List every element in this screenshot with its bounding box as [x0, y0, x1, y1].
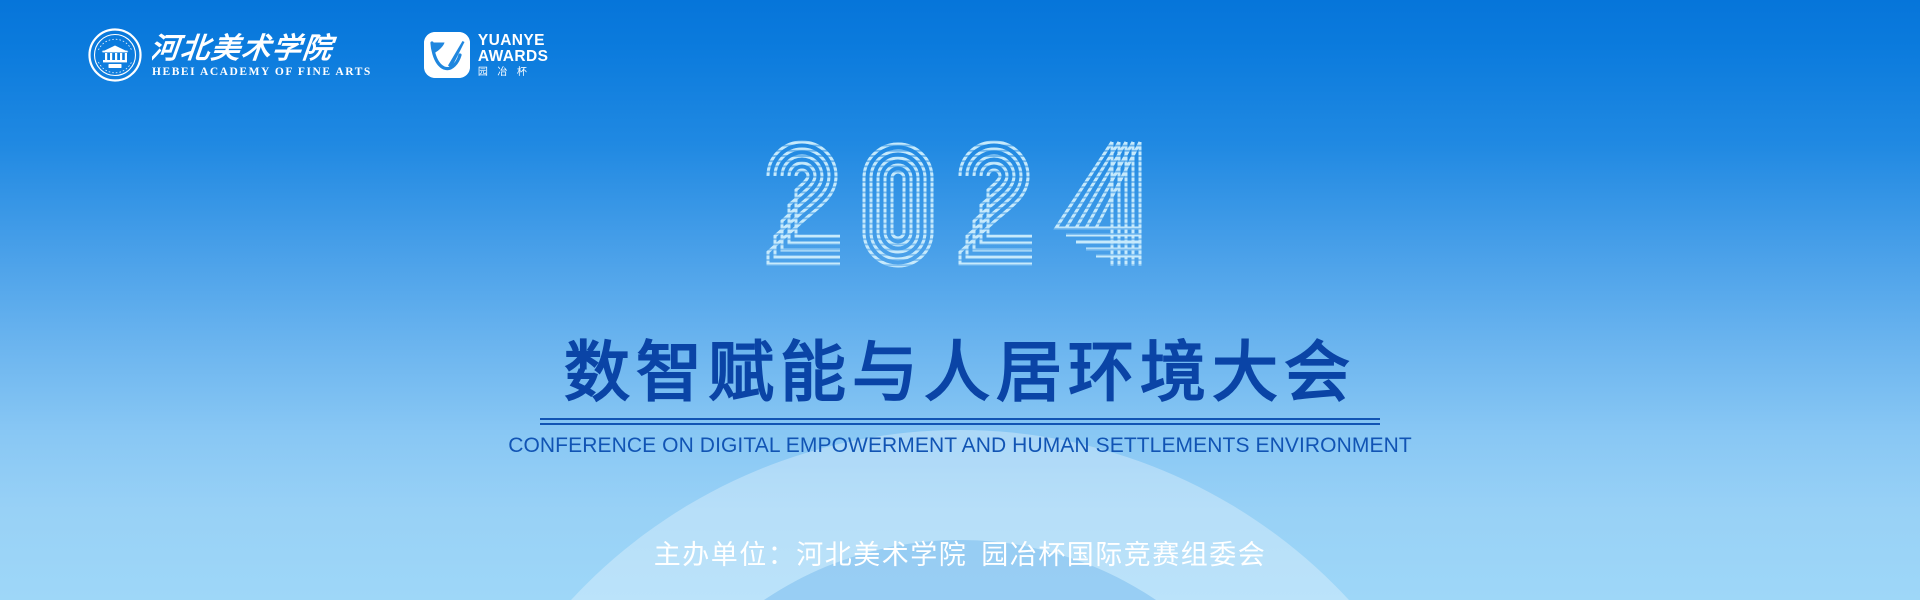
- yuanye-line2: AWARDS: [478, 49, 548, 65]
- yuanye-awards-logo: YUANYE AWARDS 园 冶 杯: [424, 32, 548, 78]
- organizer-name-1: 河北美术学院: [796, 540, 967, 571]
- yuanye-cn-char-1: 园: [478, 68, 489, 78]
- yuanye-cn-char-3: 杯: [517, 68, 528, 78]
- yuanye-line1: YUANYE: [478, 33, 548, 49]
- divider-line-bottom: [540, 423, 1380, 425]
- yuanye-name-cn: 园 冶 杯: [478, 68, 548, 78]
- year-2024-graphic: [750, 130, 1170, 290]
- conference-title-cn: 数智赋能与人居环境大会: [0, 338, 1920, 408]
- organizer-line: 主办单位：河北美术学院园冶杯国际竞赛组委会: [0, 533, 1920, 572]
- title-block: 数智赋能与人居环境大会 CONFERENCE ON DIGITAL EMPOWE…: [0, 338, 1920, 458]
- yuanye-swoosh-icon: [424, 32, 470, 78]
- hebei-academy-logo: 河北美术学院 HEBEI ACADEMY OF FINE ARTS: [88, 28, 372, 82]
- organizer-name-2: 园冶杯国际竞赛组委会: [981, 540, 1266, 571]
- title-divider: [540, 418, 1380, 425]
- logo-row: 河北美术学院 HEBEI ACADEMY OF FINE ARTS YUANYE…: [88, 28, 548, 82]
- divider-line-top: [540, 418, 1380, 420]
- conference-title-en: CONFERENCE ON DIGITAL EMPOWERMENT AND HU…: [0, 434, 1920, 458]
- academy-seal-icon: [88, 28, 142, 82]
- organizer-label: 主办单位：: [654, 540, 797, 571]
- svg-text:河北美术学院: 河北美术学院: [152, 31, 338, 65]
- yuanye-logo-text: YUANYE AWARDS 园 冶 杯: [478, 33, 548, 78]
- yuanye-cn-char-2: 冶: [497, 68, 508, 78]
- hebei-name-cn: 河北美术学院: [152, 31, 348, 65]
- hebei-logo-text: 河北美术学院 HEBEI ACADEMY OF FINE ARTS: [152, 31, 372, 79]
- hebei-name-en: HEBEI ACADEMY OF FINE ARTS: [152, 67, 372, 79]
- conference-banner: 河北美术学院 HEBEI ACADEMY OF FINE ARTS YUANYE…: [0, 0, 1920, 600]
